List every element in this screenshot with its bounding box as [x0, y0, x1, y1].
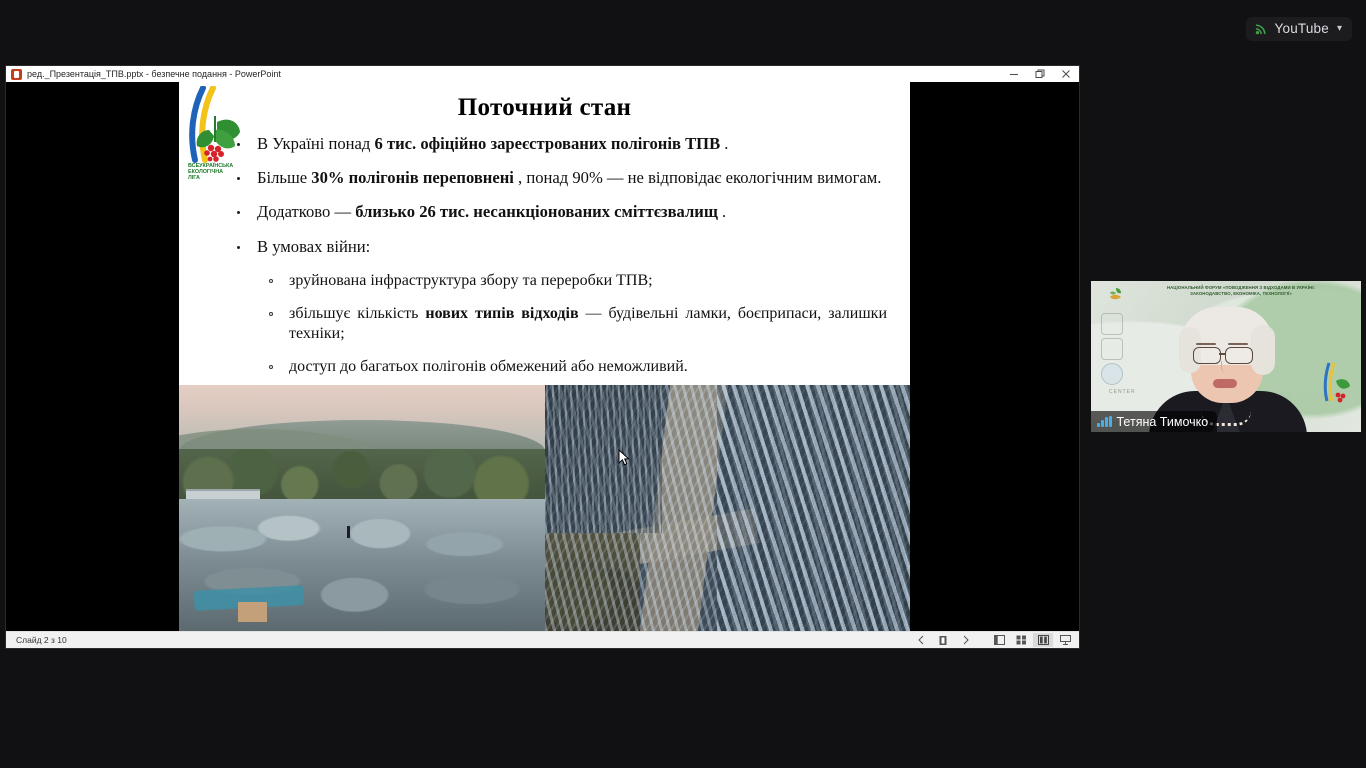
minimize-button[interactable] [1001, 66, 1027, 82]
powerpoint-status-bar: Слайд 2 з 10 [6, 631, 1079, 648]
youtube-stream-badge[interactable]: YouTube ▾ [1246, 17, 1352, 41]
slide-bullet-list: В Україні понад 6 тис. офіційно зареєстр… [227, 134, 887, 391]
slide-title: Поточний стан [179, 94, 910, 122]
audio-level-icon [1097, 416, 1112, 427]
broadcast-icon [1255, 22, 1268, 35]
next-slide-icon[interactable] [955, 633, 975, 647]
slide-sorter-icon[interactable] [1011, 633, 1031, 647]
participant-name: Тетяна Тимочко [1117, 415, 1209, 429]
slide-bullet: В умовах війни: [227, 237, 887, 257]
slide-stage: ВСЕУКРАЇНСЬКА ЕКОЛОГІЧНА ЛІГА Поточний с… [6, 82, 1079, 632]
normal-view-icon[interactable] [989, 633, 1009, 647]
participant-video-tile[interactable]: НАЦІОНАЛЬНИЙ ФОРУМ «ПОВОДЖЕННЯ З ВІДХОДА… [1091, 281, 1361, 432]
logo-line3: ЛІГА [188, 175, 200, 181]
forum-banner-line2: ЗАКОНОДАВСТВО, ЕКОНОМІКА, ТЕХНОЛОГІЇ» [1125, 291, 1357, 297]
restore-button[interactable] [1027, 66, 1053, 82]
desktop-top-bar: YouTube ▾ [0, 0, 1366, 58]
slide-bullet: доступ до багатьох полігонів обмежений а… [227, 357, 887, 377]
slide-bullet: збільшує кількість нових типів відходів … [227, 304, 887, 343]
mouse-pointer [618, 449, 630, 467]
backdrop-center-label: CENTER [1109, 389, 1136, 395]
forum-banner: НАЦІОНАЛЬНИЙ ФОРУМ «ПОВОДЖЕННЯ З ВІДХОДА… [1125, 285, 1357, 298]
backdrop-icon-1 [1101, 313, 1123, 335]
chevron-down-icon[interactable]: ▾ [1337, 24, 1342, 34]
slide-bullet: В Україні понад 6 тис. офіційно зареєстр… [227, 134, 887, 154]
reading-view-icon[interactable] [1033, 633, 1053, 647]
slide-counter: Слайд 2 з 10 [16, 635, 67, 645]
slide-bullet: Додатково — близько 26 тис. несанкціонов… [227, 202, 887, 222]
status-bar-controls [911, 632, 1075, 648]
powerpoint-icon [11, 69, 22, 80]
landfill-photo [179, 385, 545, 632]
slide-photo-row [179, 385, 910, 632]
backdrop-icon-3 [1101, 363, 1123, 385]
stream-label: YouTube [1275, 21, 1329, 36]
slide-bullet: Більше 30% полігонів переповнені , понад… [227, 168, 887, 188]
close-button[interactable] [1053, 66, 1079, 82]
prev-slide-icon[interactable] [911, 633, 931, 647]
scrap-aerial-photo [545, 385, 910, 632]
backdrop-icon-2 [1101, 338, 1123, 360]
slide-show-icon[interactable] [1055, 633, 1075, 647]
slide-canvas[interactable]: ВСЕУКРАЇНСЬКА ЕКОЛОГІЧНА ЛІГА Поточний с… [179, 82, 910, 632]
forum-logo-icon [1106, 286, 1126, 304]
current-slide-icon[interactable] [933, 633, 953, 647]
window-title-bar[interactable]: ред._Презентація_ТПВ.pptx - безпечне под… [6, 66, 1079, 82]
window-title: ред._Презентація_ТПВ.pptx - безпечне под… [27, 69, 281, 79]
powerpoint-window: ред._Презентація_ТПВ.pptx - безпечне под… [6, 66, 1079, 648]
slide-bullet: зруйнована інфраструктура збору та перер… [227, 271, 887, 291]
backdrop-kalyna-logo [1321, 361, 1351, 411]
window-controls [1001, 66, 1079, 82]
participant-name-badge: Тетяна Тимочко [1091, 411, 1217, 432]
